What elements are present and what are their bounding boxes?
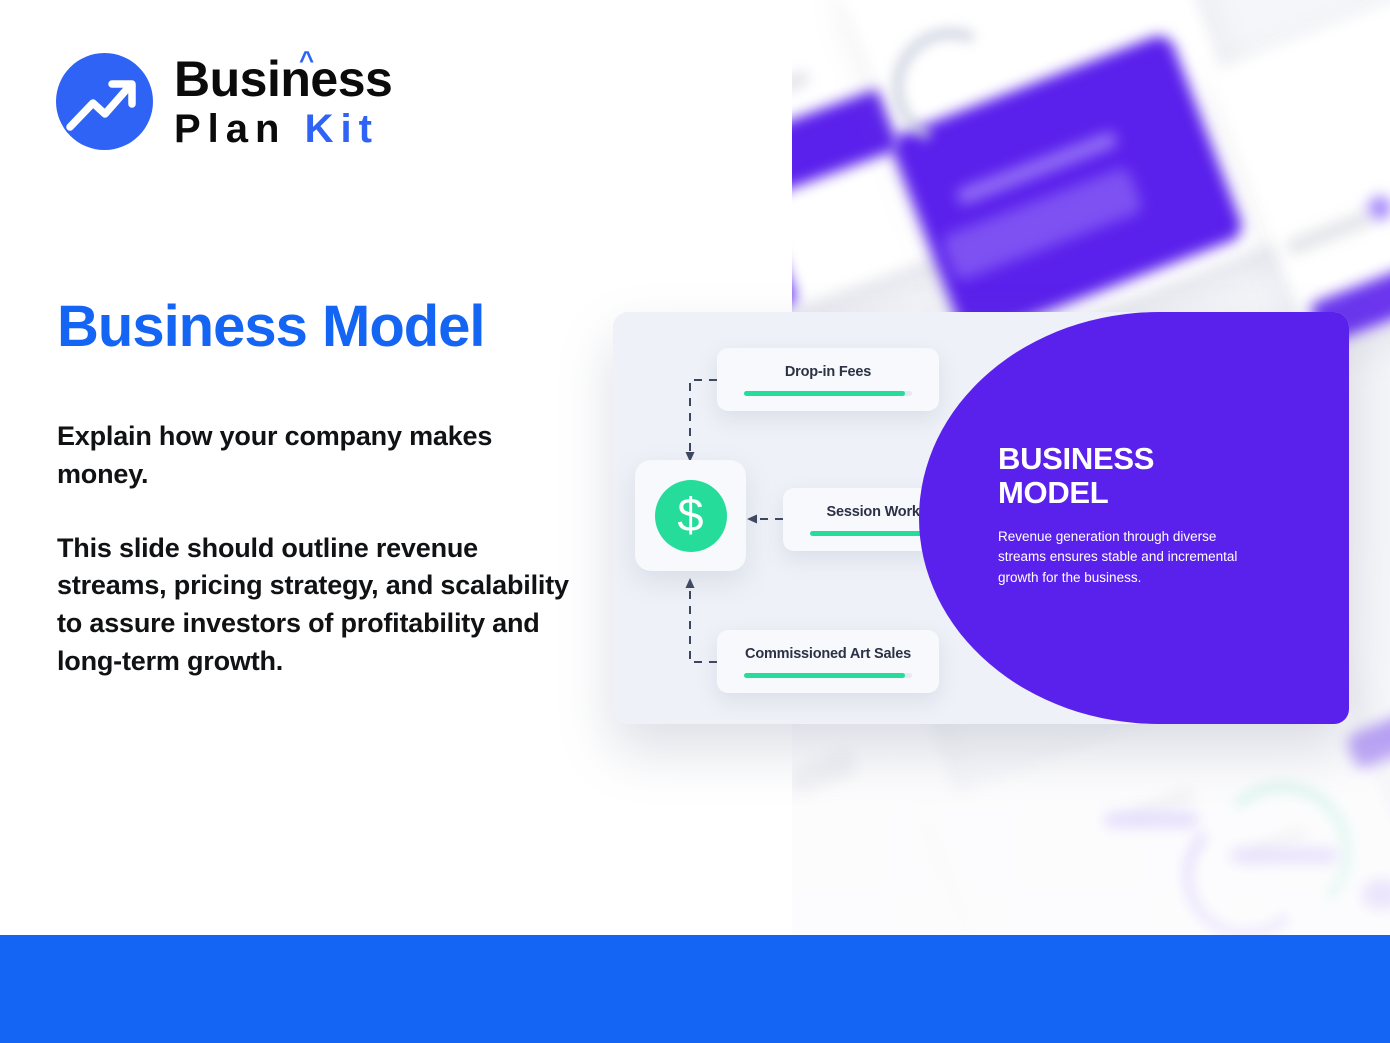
bg-body-text [940, 166, 1144, 282]
bg-progress-bar [1230, 848, 1338, 864]
bg-heading-text [955, 130, 1119, 206]
bg-text-block [1247, 825, 1310, 859]
slide-body-copy: Explain how your company makes money. Th… [57, 418, 577, 681]
purple-panel-content: BUSINESS MODEL Revenue generation throug… [998, 442, 1256, 588]
bg-dot [1362, 880, 1390, 910]
bg-text-block [792, 70, 811, 121]
revenue-hub-node: $ [635, 460, 746, 571]
brand-name-plan: Plan [174, 107, 286, 151]
trend-arrow-up-icon [56, 53, 153, 150]
brand-name-kit: Kit [305, 107, 379, 151]
body-paragraph-1: Explain how your company makes money. [57, 418, 577, 494]
revenue-node-drop-in-fees[interactable]: Drop-in Fees [717, 348, 939, 411]
bg-text-block [1284, 209, 1374, 256]
bg-slide-mockup [792, 0, 1019, 333]
bg-progress-bar [1104, 812, 1199, 828]
brand-name-business: Business [174, 51, 392, 107]
bg-purple-block [792, 79, 925, 225]
node-label: Commissioned Art Sales [733, 646, 923, 662]
bg-purple-block [1345, 705, 1390, 771]
brand-wordmark: Business ^ Plan Kit [174, 54, 392, 149]
purple-panel-description: Revenue generation through diverse strea… [998, 527, 1256, 588]
revenue-node-commissioned-art-sales[interactable]: Commissioned Art Sales [717, 630, 939, 693]
bg-donut-chart [875, 11, 1027, 163]
bg-text-block [792, 748, 859, 797]
dollar-sign-icon: $ [655, 480, 727, 552]
brand-name-line1: Business ^ [174, 54, 392, 104]
brand-caret-accent: ^ [299, 47, 314, 73]
dollar-symbol: $ [677, 491, 703, 538]
purple-panel-title: BUSINESS MODEL [998, 442, 1256, 510]
brand-logo[interactable]: Business ^ Plan Kit [56, 53, 392, 150]
business-model-showcase-card: $ Drop-in Fees Session Workshops Commiss… [613, 312, 1349, 724]
brand-name-line2: Plan Kit [174, 109, 392, 149]
page-title: Business Model [57, 296, 485, 359]
bg-slide-mockup [1206, 0, 1390, 353]
bg-purple-panel [888, 31, 1246, 342]
body-paragraph-2: This slide should outline revenue stream… [57, 530, 577, 681]
footer-accent-bar [0, 935, 1390, 1043]
bg-ring-chart [1212, 782, 1352, 922]
bg-ring-chart [1182, 812, 1310, 935]
bg-slide-mockup [836, 0, 1287, 356]
node-progress-bar [744, 673, 911, 678]
bg-text-block [1127, 786, 1197, 824]
node-progress-bar [744, 391, 911, 396]
node-label: Drop-in Fees [733, 364, 923, 380]
bg-dot [1368, 196, 1390, 220]
